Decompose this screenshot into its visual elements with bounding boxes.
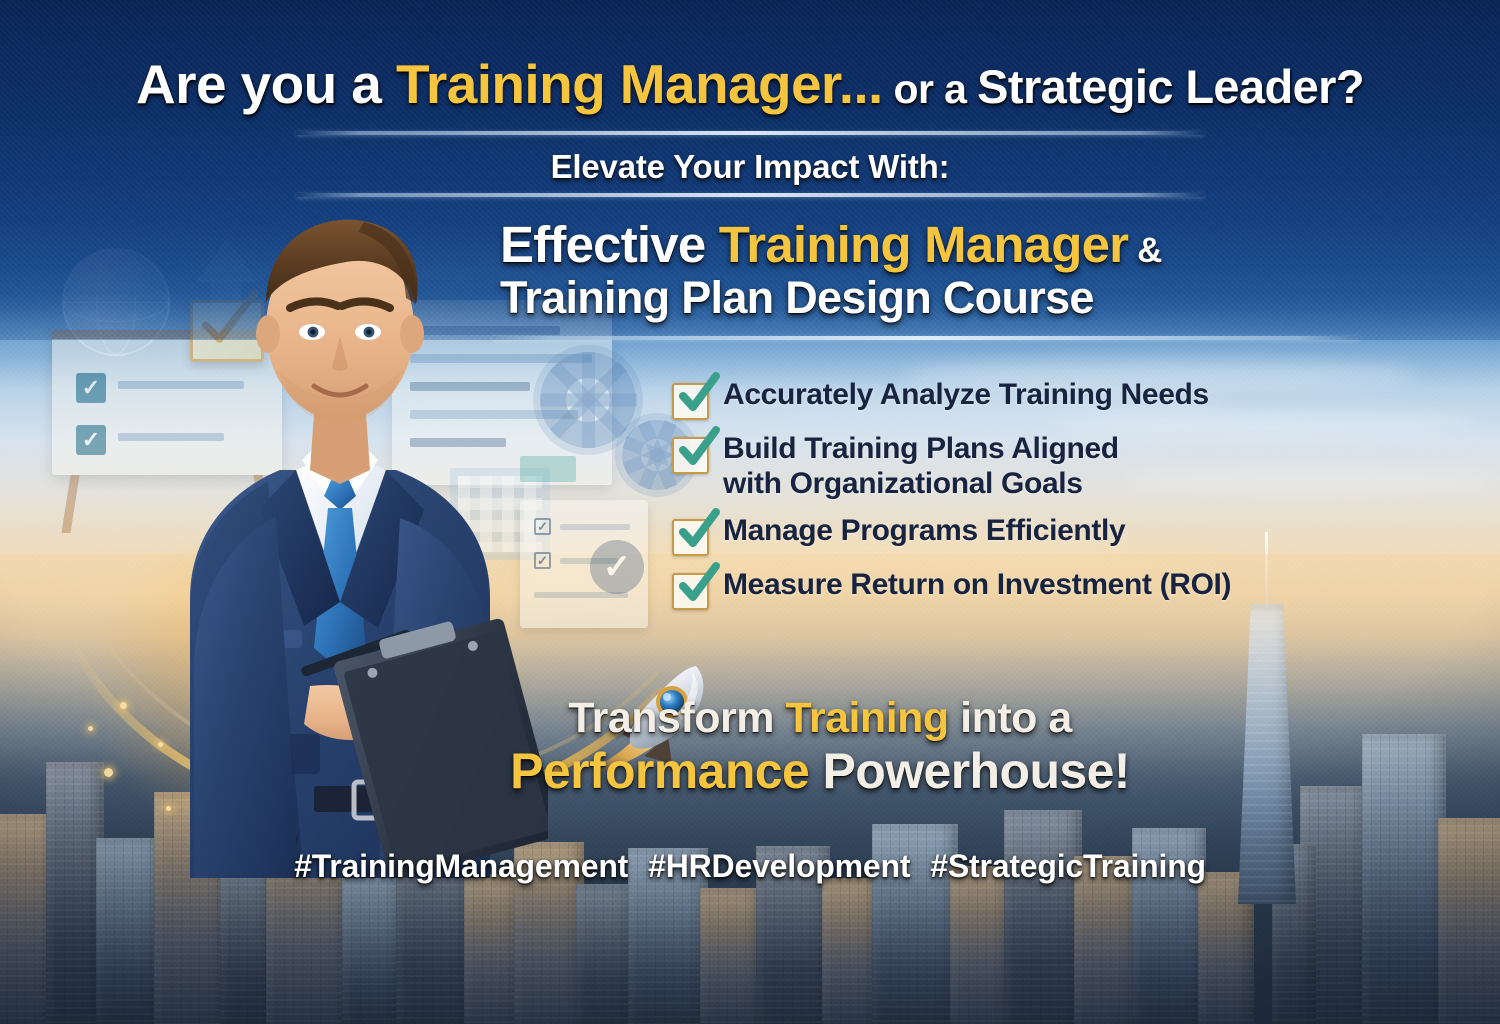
headline-part-2: or a <box>883 66 977 112</box>
course-title-line-1: Effective Training Manager & <box>500 215 1500 274</box>
hashtag-training-management[interactable]: #TrainingManagement <box>294 848 628 884</box>
tagline-line-1: Transform Training into a <box>0 694 1500 743</box>
divider-bottom <box>492 336 1360 340</box>
headline-part-1: Are you a <box>136 53 396 115</box>
tagline-highlight-2: Performance <box>510 743 809 799</box>
headline-highlight: Training Manager... <box>396 53 883 115</box>
tagline-line-2: Performance Powerhouse! <box>0 742 1500 800</box>
headline-part-3: Strategic Leader? <box>977 60 1364 113</box>
hashtag-row: #TrainingManagement#HRDevelopment#Strate… <box>0 848 1500 885</box>
list-item: Build Training Plans Aligned with Organi… <box>672 432 1312 502</box>
list-item-label: Accurately Analyze Training Needs <box>723 378 1209 413</box>
checkbox-checked-icon <box>672 437 709 474</box>
checkbox-checked-icon <box>672 383 709 420</box>
course-title-ampersand: & <box>1128 231 1161 270</box>
page-title: Are you a Training Manager... or a Strat… <box>0 52 1500 116</box>
doc-line <box>560 524 630 530</box>
list-item: Manage Programs Efficiently <box>672 514 1312 556</box>
list-item: Accurately Analyze Training Needs <box>672 378 1312 420</box>
checkbox-checked-icon <box>672 573 709 610</box>
board-check: ✓ <box>76 425 106 455</box>
list-item: Measure Return on Investment (ROI) <box>672 568 1312 610</box>
tagline-powerhouse: Powerhouse! <box>809 743 1130 799</box>
tagline-highlight-1: Training <box>785 694 948 742</box>
list-item-label: Measure Return on Investment (ROI) <box>723 568 1231 603</box>
gear-icon <box>540 352 636 448</box>
divider-top <box>296 131 1204 135</box>
list-item-label: Manage Programs Efficiently <box>723 514 1125 549</box>
promotional-banner: ✓ ✓ <box>0 0 1500 1024</box>
list-item-label: Build Training Plans Aligned with Organi… <box>723 432 1119 502</box>
benefits-list: Accurately Analyze Training Needs Build … <box>672 378 1312 622</box>
board-check: ✓ <box>76 373 106 403</box>
circle-check-icon: ✓ <box>590 540 644 594</box>
hashtag-strategic-training[interactable]: #StrategicTraining <box>930 848 1206 884</box>
hashtag-hr-development[interactable]: #HRDevelopment <box>648 848 910 884</box>
neck <box>310 414 370 484</box>
tagline-suffix: into a <box>949 694 1072 742</box>
course-title-line-2: Training Plan Design Course <box>500 272 1500 324</box>
tagline-prefix: Transform <box>568 694 785 742</box>
course-title-highlight: Training Manager <box>719 216 1128 273</box>
checkbox-checked-icon <box>672 519 709 556</box>
